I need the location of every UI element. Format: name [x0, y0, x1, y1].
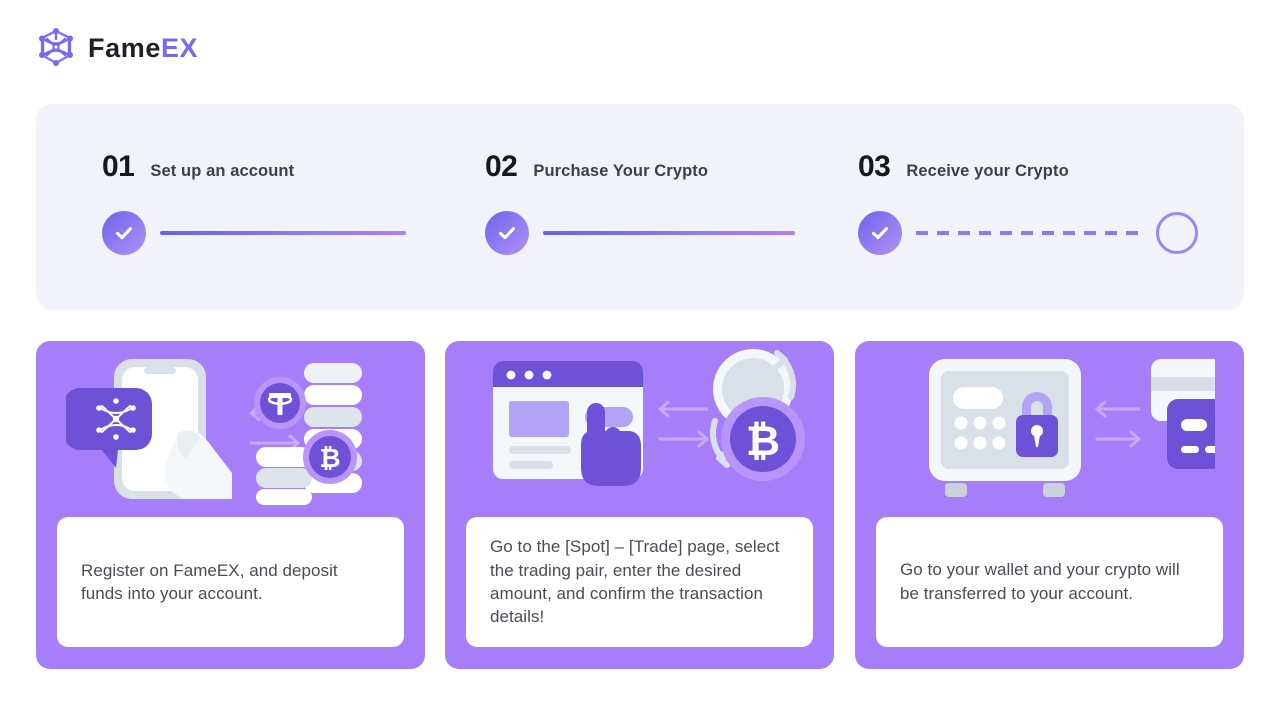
exchange-arrows-icon [1097, 402, 1139, 446]
step-track [858, 210, 1198, 256]
exchange-arrows-icon [660, 402, 707, 446]
step-number: 02 [485, 152, 517, 182]
card-note-1: Register on FameEX, and deposit funds in… [57, 517, 404, 647]
step-card-2: ₿ Go to the [Spot] – [Trade] page, selec… [445, 341, 834, 669]
step-item-03: 03 Receive your Crypto [858, 152, 1198, 262]
card-note-text: Go to your wallet and your crypto will b… [900, 558, 1199, 606]
step-label: Purchase Your Crypto [533, 163, 708, 180]
step-label: Set up an account [150, 163, 294, 180]
coin-stack-usdt-btc-icon: ₿ [254, 363, 362, 505]
safe-vault-lock-icon [929, 359, 1081, 497]
card-illustration-1: ₿ [36, 341, 425, 511]
step-header: 03 Receive your Crypto [858, 152, 1198, 188]
card-illustration-3 [855, 341, 1244, 511]
check-circle-icon [485, 211, 529, 255]
card-note-3: Go to your wallet and your crypto will b… [876, 517, 1223, 647]
step-track [485, 210, 860, 256]
empty-circle-icon [1156, 212, 1198, 254]
progress-line-solid [543, 231, 795, 235]
step-header: 02 Purchase Your Crypto [485, 152, 860, 188]
step-number: 03 [858, 152, 890, 182]
progress-line-solid [160, 231, 406, 235]
card-note-2: Go to the [Spot] – [Trade] page, select … [466, 517, 813, 647]
step-card-1: ₿ Register on FameEX, and deposit funds … [36, 341, 425, 669]
swap-coins-btc-icon: ₿ [712, 349, 804, 481]
brand-name-primary: Fame [88, 33, 161, 63]
svg-text:₿: ₿ [319, 443, 340, 473]
steps-progress-banner: 01 Set up an account 02 Purchase Your Cr… [36, 104, 1244, 310]
card-note-text: Register on FameEX, and deposit funds in… [81, 559, 380, 606]
step-item-02: 02 Purchase Your Crypto [485, 152, 860, 262]
card-illustration-2: ₿ [445, 341, 834, 511]
fameex-logo-icon [36, 27, 76, 69]
step-card-3: Go to your wallet and your crypto will b… [855, 341, 1244, 669]
step-item-01: 01 Set up an account [102, 152, 477, 262]
progress-line-dashed [916, 231, 1142, 235]
check-circle-icon [102, 211, 146, 255]
svg-text:₿: ₿ [745, 417, 779, 464]
step-header: 01 Set up an account [102, 152, 477, 188]
card-note-text: Go to the [Spot] – [Trade] page, select … [490, 535, 789, 628]
check-circle-icon [858, 211, 902, 255]
step-label: Receive your Crypto [906, 163, 1068, 180]
brand-wordmark: FameEX [88, 35, 198, 62]
brand-name-accent: EX [161, 33, 198, 63]
brand-header: FameEX [36, 24, 198, 72]
step-number: 01 [102, 152, 134, 182]
credit-cards-icon [1151, 359, 1215, 469]
step-track [102, 210, 477, 256]
